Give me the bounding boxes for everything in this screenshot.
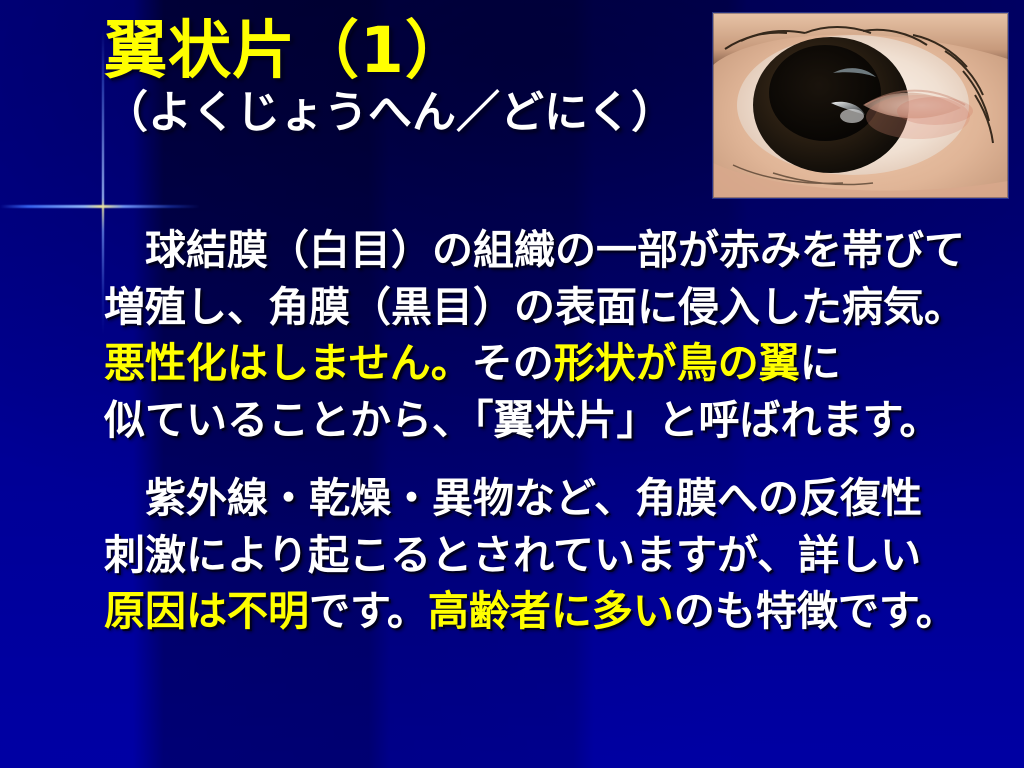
p1-line-3-highlight-c: 形状が鳥の翼 <box>554 339 800 387</box>
p2-line-1: 紫外線・乾燥・異物など、角膜への反復性 <box>104 470 1016 527</box>
p2-line-3-highlight-a: 原因は不明 <box>104 587 309 635</box>
eye-closeup-icon <box>713 13 1008 198</box>
page-title: 翼状片（1） <box>104 18 704 84</box>
p1-line-3-plain-b: その <box>472 339 554 387</box>
p1-line-1: 球結膜（白目）の組織の一部が赤みを帯びて <box>104 222 1016 279</box>
p2-line-3: 原因は不明です。高齢者に多いのも特徴です。 <box>104 583 1016 640</box>
title-block: 翼状片（1） （よくじょうへん／どにく） <box>104 18 704 136</box>
p2-line-3-plain-b: です。 <box>309 587 428 635</box>
p1-line-3-plain-d: に <box>800 339 841 387</box>
paragraph-1: 球結膜（白目）の組織の一部が赤みを帯びて 増殖し、角膜（黒目）の表面に侵入した病… <box>104 222 1016 448</box>
paragraph-2: 紫外線・乾燥・異物など、角膜への反復性 刺激により起こるとされていますが、詳しい… <box>104 470 1016 640</box>
p1-line-2: 増殖し、角膜（黒目）の表面に侵入した病気。 <box>104 279 1016 336</box>
body-text: 球結膜（白目）の組織の一部が赤みを帯びて 増殖し、角膜（黒目）の表面に侵入した病… <box>104 222 1016 640</box>
title-reading: （よくじょうへん／どにく） <box>104 90 704 136</box>
p2-line-3-plain-d: のも特徴です。 <box>674 587 957 635</box>
eye-photo <box>713 13 1008 198</box>
slide-canvas: 翼状片（1） （よくじょうへん／どにく） <box>0 0 1024 768</box>
p1-line-3-highlight-a: 悪性化はしません。 <box>104 339 472 387</box>
p1-line-4: 似ていることから、「翼状片」と呼ばれます。 <box>104 392 1016 449</box>
p1-line-3: 悪性化はしません。その形状が鳥の翼に <box>104 335 1016 392</box>
p2-line-2: 刺激により起こるとされていますが、詳しい <box>104 527 1016 584</box>
p2-line-3-highlight-c: 高齢者に多い <box>428 587 674 635</box>
decorative-horizontal-line <box>0 205 200 208</box>
